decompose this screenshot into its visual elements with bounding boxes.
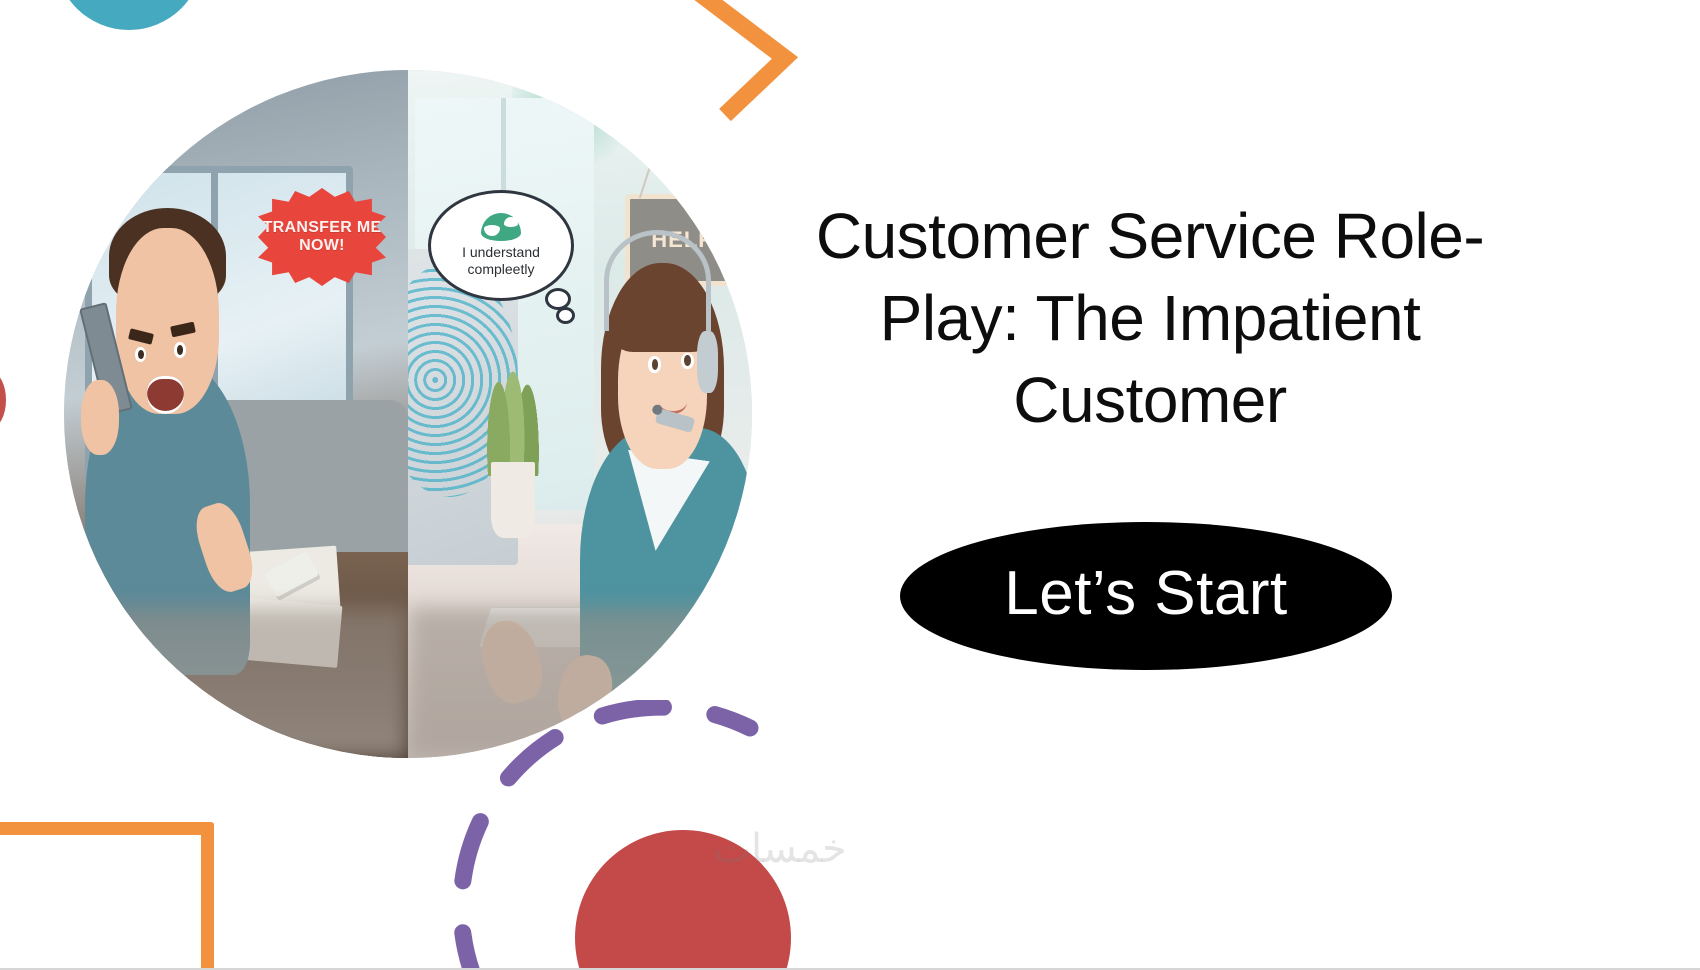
title-block: Customer Service Role-Play: The Impatien… xyxy=(800,196,1500,442)
agent-eye-left xyxy=(648,356,660,373)
understand-thought-bubble: I understand compleetly xyxy=(428,190,574,301)
transfer-speech-bubble-text: TRANSFER ME NOW! xyxy=(258,219,386,255)
foreground-blur-band-left xyxy=(64,607,408,758)
green-swirl-logo-icon xyxy=(481,213,521,241)
headset-band-icon xyxy=(604,230,710,331)
red-sliver-decoration xyxy=(0,372,6,428)
orange-bracket-decoration xyxy=(0,822,214,970)
split-scene-illustration: HELP DE xyxy=(64,70,752,758)
red-circle-decoration xyxy=(575,830,791,970)
page-title: Customer Service Role-Play: The Impatien… xyxy=(800,196,1500,442)
headset-earcup-icon xyxy=(697,331,718,393)
foreground-blur-band-right xyxy=(408,607,752,758)
transfer-speech-bubble: TRANSFER ME NOW! xyxy=(258,188,386,286)
support-agent-panel: HELP DE xyxy=(408,70,752,758)
angry-customer-panel xyxy=(64,70,408,758)
watermark-text: خمسات xyxy=(660,826,900,872)
customer-hand-holding-phone xyxy=(81,380,119,456)
agent-eye-right xyxy=(681,353,693,370)
thought-bubble-tail-small xyxy=(556,307,575,324)
cta-container: Let’s Start xyxy=(900,522,1392,670)
lets-start-button[interactable]: Let’s Start xyxy=(900,522,1392,670)
potted-plant-leaves xyxy=(477,345,549,476)
slide-canvas: HELP DE TRANSFER ME NOW! xyxy=(0,0,1700,970)
customer-shouting-mouth xyxy=(147,376,185,414)
customer-eye-right xyxy=(174,342,186,357)
potted-plant-pot xyxy=(491,462,536,538)
teal-circle-decoration xyxy=(55,0,203,30)
understand-thought-bubble-text: I understand compleetly xyxy=(431,244,571,278)
